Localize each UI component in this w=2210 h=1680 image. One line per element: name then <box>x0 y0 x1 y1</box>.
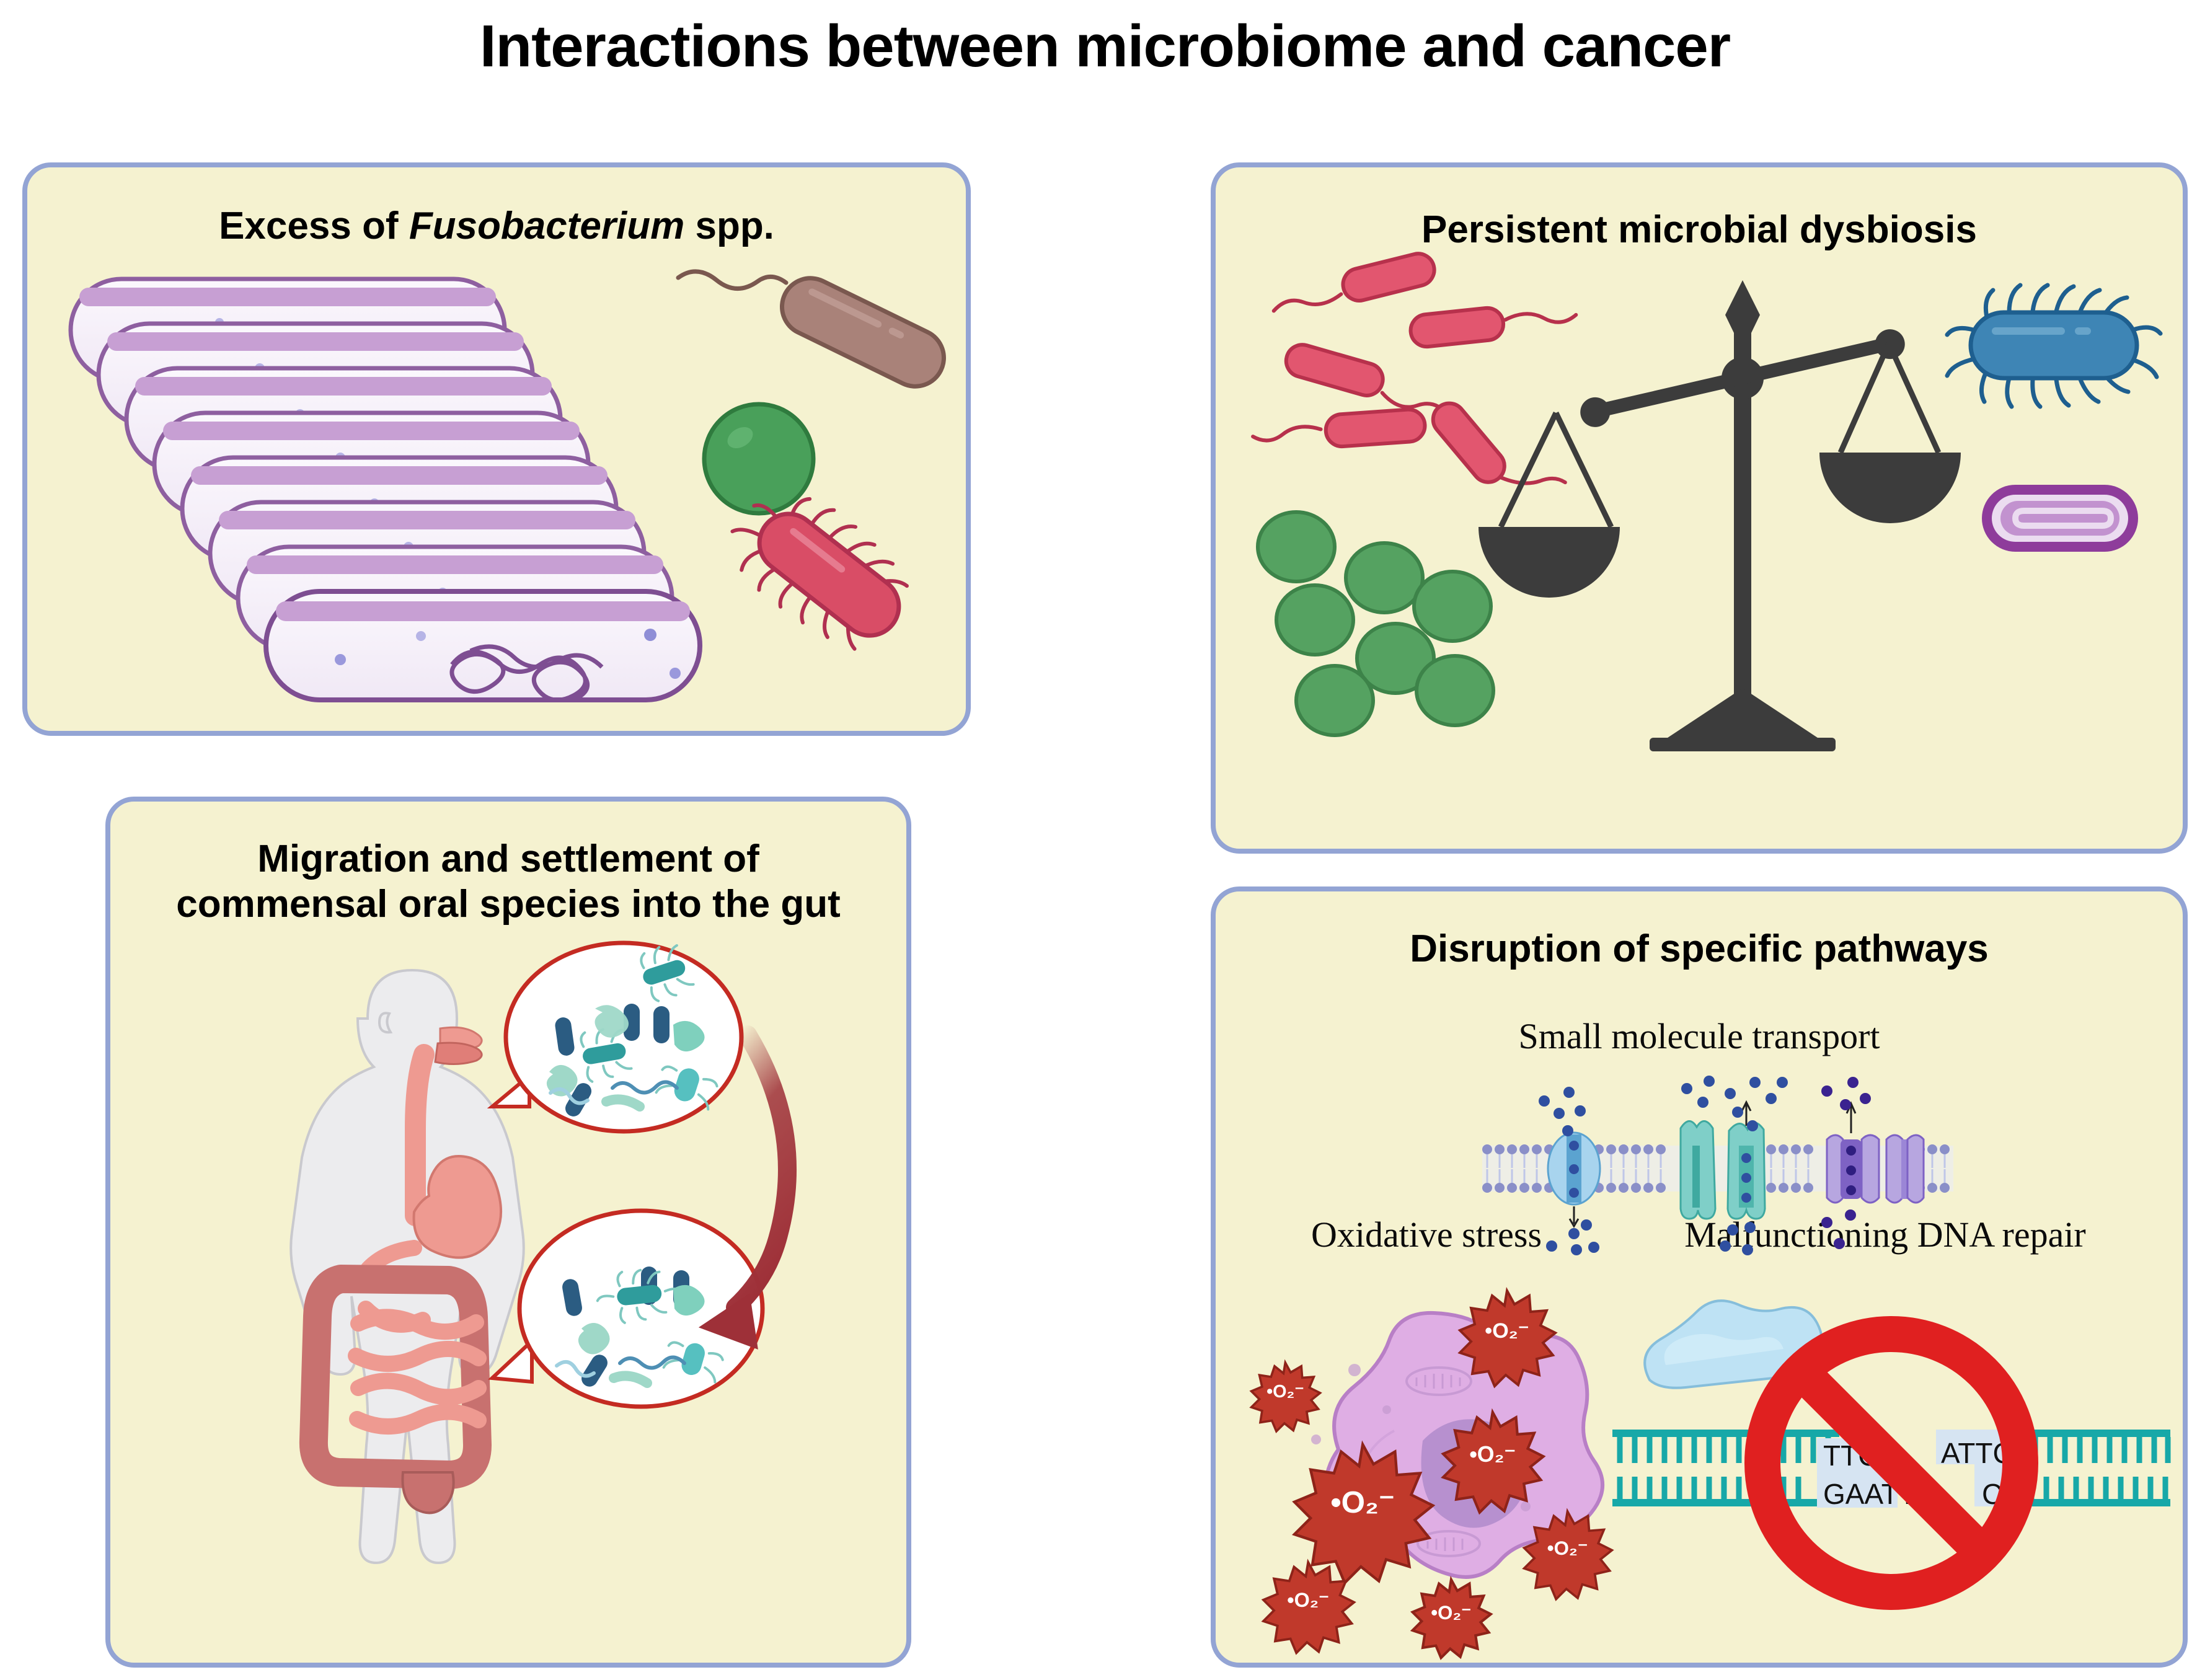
panel-title-pathways: Disruption of specific pathways <box>1216 926 2183 971</box>
membrane-transport-artwork <box>1482 1066 1953 1271</box>
panel-persistent-dysbiosis: Persistent microbial dysbiosis <box>1211 162 2188 854</box>
human-body <box>291 970 524 1563</box>
stacked-rod-group <box>71 279 700 700</box>
panel-migration-settlement: Migration and settlement of commensal or… <box>105 797 911 1668</box>
magnifier-oral <box>492 941 741 1131</box>
panel-disruption-pathways: Disruption of specific pathways Small mo… <box>1211 886 2188 1668</box>
migration-artwork <box>123 944 904 1657</box>
front-rod-with-nucleoid <box>266 591 700 700</box>
green-coccus <box>704 404 813 513</box>
radical: •O₂⁻ <box>1413 1580 1491 1658</box>
svg-text:•O₂⁻: •O₂⁻ <box>1330 1485 1395 1519</box>
svg-text:•O₂⁻: •O₂⁻ <box>1485 1319 1529 1343</box>
panel-title-dysbiosis: Persistent microbial dysbiosis <box>1216 207 2183 252</box>
svg-text:•O₂⁻: •O₂⁻ <box>1266 1382 1304 1402</box>
transporter-channel-blue <box>1539 1087 1600 1255</box>
transporter-purple <box>1821 1077 1924 1249</box>
svg-text:•O₂⁻: •O₂⁻ <box>1287 1589 1329 1611</box>
solutes-above-blue <box>1539 1087 1586 1136</box>
svg-text:•O₂⁻: •O₂⁻ <box>1547 1537 1588 1559</box>
title-italic-species: Fusobacterium <box>409 205 684 247</box>
fusobacterium-artwork <box>52 254 951 725</box>
blue-piliated-rod <box>1947 285 2160 407</box>
svg-text:•O₂⁻: •O₂⁻ <box>1431 1602 1471 1624</box>
magnifier-gut <box>492 1211 762 1407</box>
title-after: spp. <box>684 205 774 247</box>
panel-title-migration: Migration and settlement of commensal or… <box>110 836 906 927</box>
panel-title-fusobacterium: Excess of Fusobacterium spp. <box>27 203 966 249</box>
scale-pan-right <box>1819 343 1961 523</box>
title-before: Excess of <box>219 205 409 247</box>
purple-capsule-bacterium <box>1982 485 2138 552</box>
solutes-above-teal <box>1681 1076 1788 1131</box>
solutes-below-teal <box>1720 1222 1756 1255</box>
migration-title-line-1: Migration and settlement of <box>110 836 906 882</box>
green-coccus-cluster <box>1258 512 1493 735</box>
dna-repair-artwork: TTC GAATT ATTC C <box>1612 1263 2170 1648</box>
dysbiosis-artwork <box>1253 267 2146 831</box>
figure-title: Interactions between microbiome and canc… <box>0 12 2210 81</box>
migration-title-line-2: commensal oral species into the gut <box>110 882 906 927</box>
panel-excess-fusobacterium: Excess of Fusobacterium spp. <box>22 162 971 736</box>
brown-flagellated-rod <box>678 268 953 396</box>
figure-root: Interactions between microbiome and canc… <box>0 0 2210 1680</box>
pink-rod-cluster <box>1252 250 1578 524</box>
scale-pan-left <box>1478 413 1620 598</box>
label-small-molecule-transport: Small molecule transport <box>1216 1015 2183 1057</box>
radical: •O₂⁻ <box>1252 1363 1320 1431</box>
dna-right: ATTC C <box>1936 1430 2170 1510</box>
svg-text:•O₂⁻: •O₂⁻ <box>1469 1442 1516 1467</box>
solutes-above-purple <box>1821 1077 1871 1110</box>
solutes-below-purple <box>1821 1209 1856 1249</box>
balance-scale <box>1478 280 1961 751</box>
oxidative-stress-artwork: •O₂⁻ •O₂⁻ •O₂⁻ •O₂⁻ •O₂⁻ <box>1257 1263 1641 1648</box>
